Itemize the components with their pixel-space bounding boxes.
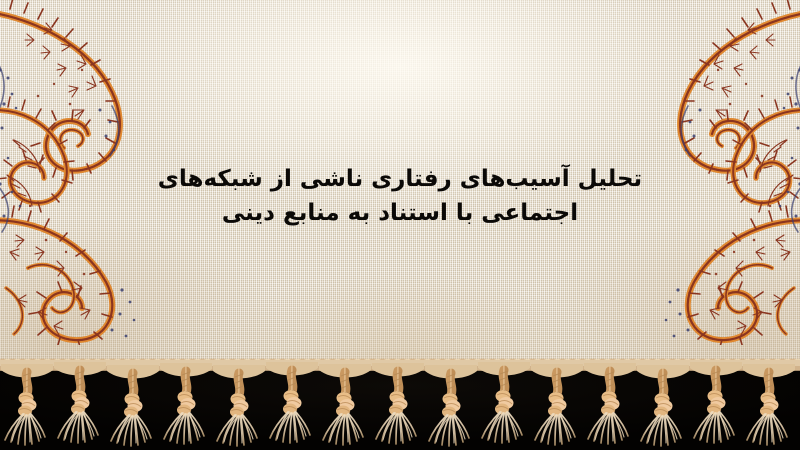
title-line-2: اجتماعی با استناد به منابع دینی [0, 196, 800, 230]
slide-title: تحلیل آسیب‌های رفتاری ناشی از شبکه‌های ا… [0, 162, 800, 230]
title-line-1: تحلیل آسیب‌های رفتاری ناشی از شبکه‌های [0, 162, 800, 196]
tassel-fringe [0, 360, 800, 450]
presentation-slide: تحلیل آسیب‌های رفتاری ناشی از شبکه‌های ا… [0, 0, 800, 450]
